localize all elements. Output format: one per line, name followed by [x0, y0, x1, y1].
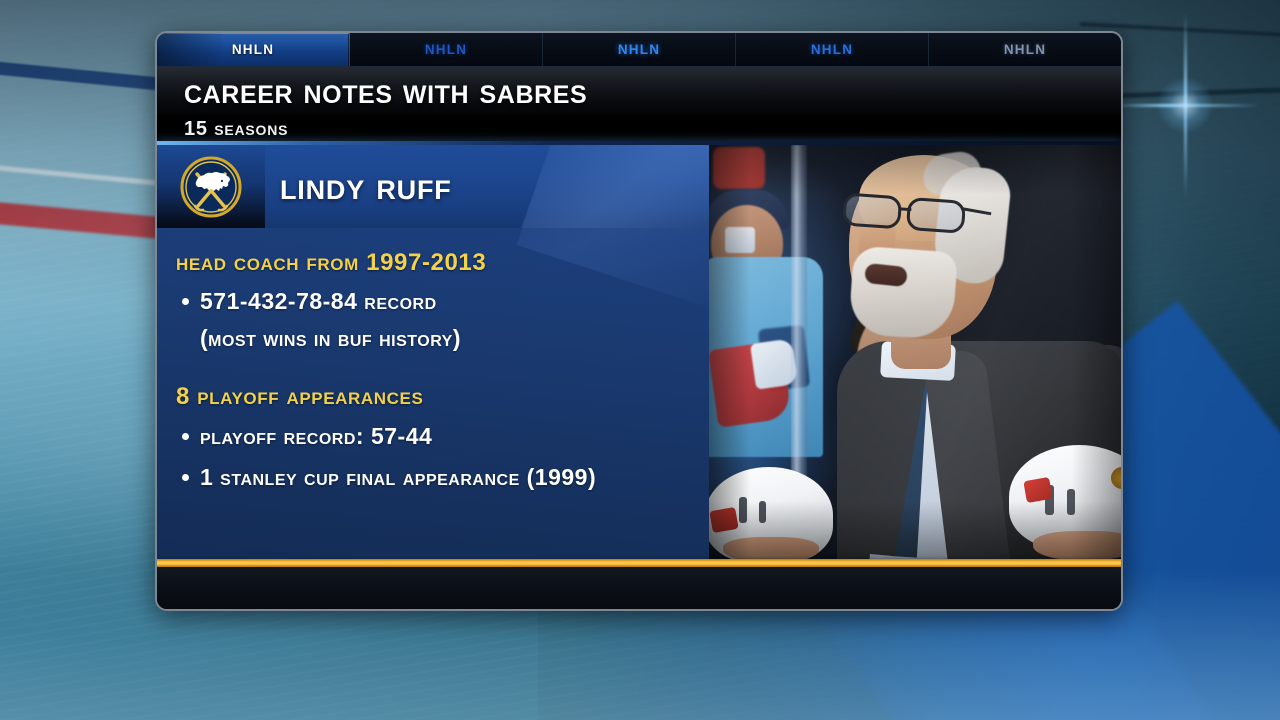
stat-group-coaching: Head Coach From 1997-2013 571-432-78-84 … — [176, 250, 693, 350]
bullet-dot-icon — [182, 474, 189, 481]
tab-nhln-1[interactable]: NHLN — [157, 33, 350, 66]
tab-label: NHLN — [618, 42, 660, 57]
tab-nhln-3[interactable]: NHLN — [543, 33, 736, 66]
bullet-dot-icon — [182, 433, 189, 440]
graphic-header: Career Notes With Sabres 15 Seasons — [157, 67, 1121, 142]
stat-group-heading: 8 Playoff Appearances — [176, 384, 693, 409]
tab-label: NHLN — [425, 42, 467, 57]
name-bar: Lindy Ruff — [157, 145, 709, 228]
tab-nhln-4[interactable]: NHLN — [736, 33, 929, 66]
stat-bullet-text: 1 Stanley Cup Final Appearance (1999) — [200, 465, 596, 489]
panel-footer — [157, 567, 1121, 609]
tab-label: NHLN — [1004, 42, 1046, 57]
stat-bullet: 571-432-78-84 Record — [176, 289, 693, 313]
stat-bullet: Playoff Record: 57-44 — [176, 424, 693, 448]
title-bar: Career Notes With Sabres — [157, 67, 1121, 115]
buffalo-sabres-logo-icon — [180, 156, 242, 218]
subtitle-bar: 15 Seasons — [157, 115, 1121, 142]
page-title: Career Notes With Sabres — [184, 74, 587, 109]
page-subtitle: 15 Seasons — [184, 119, 288, 139]
team-logo-container — [157, 145, 265, 228]
stat-group-heading: Head Coach From 1997-2013 — [176, 250, 693, 275]
gold-accent-bar — [157, 559, 1121, 567]
bullet-dot-icon — [182, 298, 189, 305]
tab-nhln-2[interactable]: NHLN — [350, 33, 543, 66]
subject-name: Lindy Ruff — [280, 168, 452, 206]
stat-continuation-text: (Most Wins In BUF History) — [200, 326, 693, 350]
subject-photo — [709, 145, 1121, 559]
tab-nhln-5[interactable]: NHLN — [929, 33, 1121, 66]
stat-bullet-text: 571-432-78-84 Record — [200, 289, 437, 313]
info-panel: NHLN NHLN NHLN NHLN NHLN Career Notes — [155, 31, 1123, 611]
stat-group-playoffs: 8 Playoff Appearances Playoff Record: 57… — [176, 384, 693, 488]
stats-column: Lindy Ruff Head Coach From 1997-2013 571… — [157, 145, 709, 609]
panel-body: Lindy Ruff Head Coach From 1997-2013 571… — [157, 145, 1121, 609]
network-tab-bar: NHLN NHLN NHLN NHLN NHLN — [157, 33, 1121, 67]
stat-bullet: 1 Stanley Cup Final Appearance (1999) — [176, 465, 693, 489]
tab-label: NHLN — [232, 42, 274, 57]
stats-list: Head Coach From 1997-2013 571-432-78-84 … — [157, 228, 709, 609]
broadcast-graphic-screen: NHLN NHLN NHLN NHLN NHLN Career Notes — [0, 0, 1280, 720]
tab-label: NHLN — [811, 42, 853, 57]
stat-bullet-text: Playoff Record: 57-44 — [200, 424, 432, 448]
